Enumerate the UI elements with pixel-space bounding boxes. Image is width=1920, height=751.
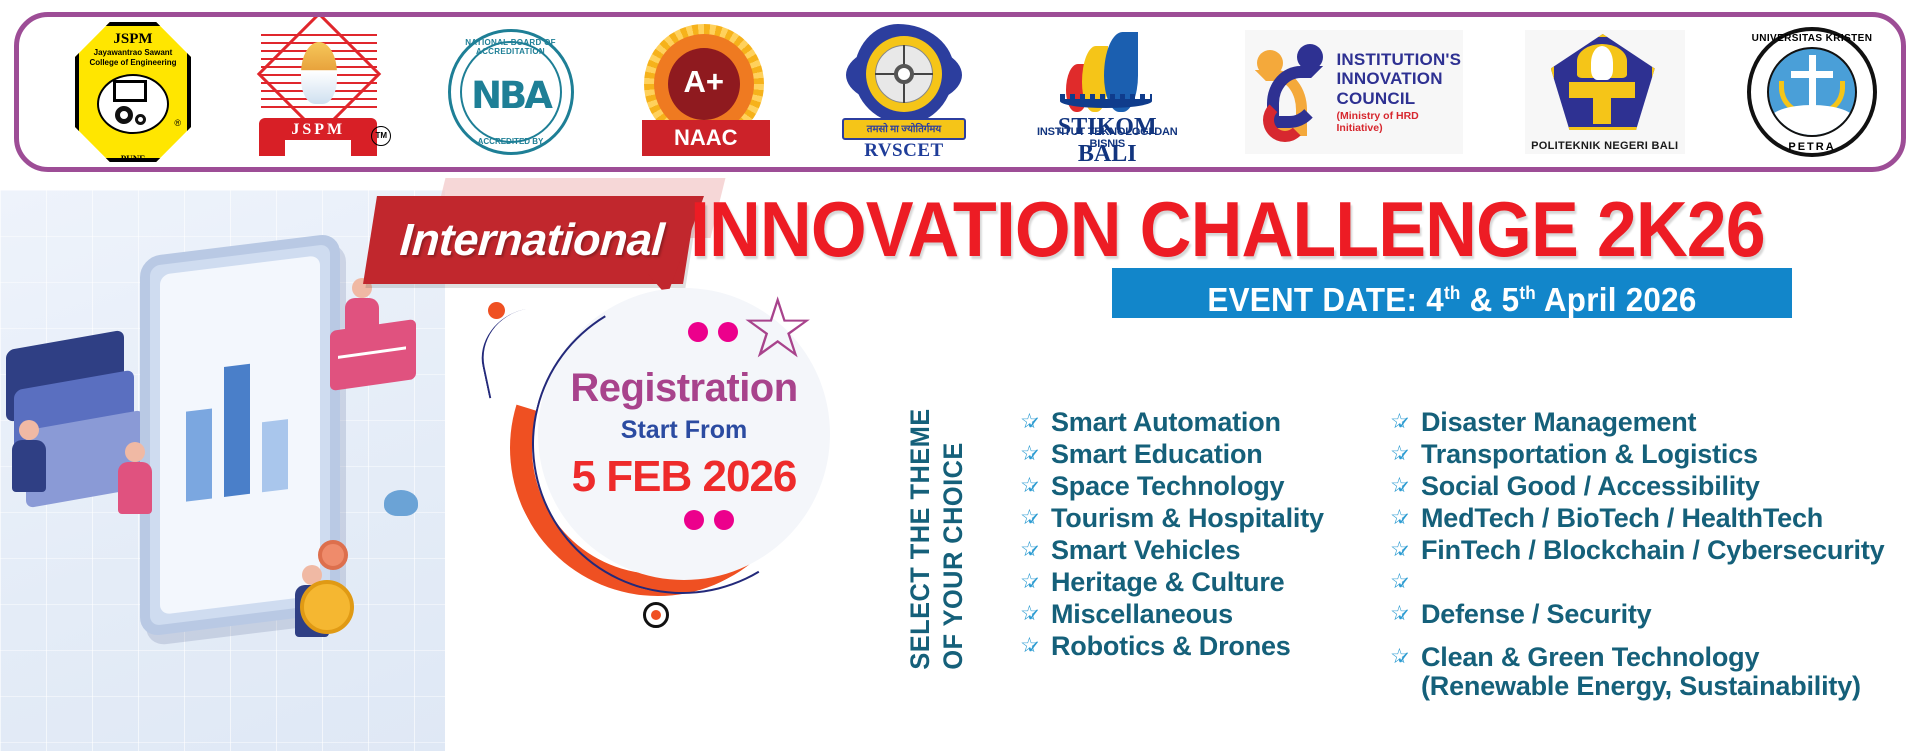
theme-label: Robotics & Drones [1051, 632, 1291, 661]
theme-item[interactable]: ☆✓Defense / Security [1390, 600, 1920, 629]
select-theme-vertical-label: OF YOUR CHOICE SELECT THE THEME [905, 400, 969, 678]
registration-date: 5 FEB 2026 [538, 452, 830, 502]
international-banner-label: International [379, 200, 685, 280]
nba-top-text: NATIONAL BOARD OF ACCREDITATION [451, 38, 571, 56]
machine-head-icon [113, 80, 147, 102]
event-day-2: 5 [1502, 281, 1520, 318]
stikom-bali-logo: INSTITUT TEKNOLOGI DAN BISNIS STIKOM BAL… [1032, 17, 1182, 167]
saraswati-figure [301, 42, 337, 104]
theme-item-empty: ☆✓ [1390, 568, 1920, 597]
jspm-line1: Jayawantrao Sawant [94, 48, 173, 57]
rvscet-name: RVSCET [838, 140, 970, 162]
event-day-2-sup: th [1519, 283, 1536, 303]
theme-label: Smart Automation [1051, 408, 1281, 437]
event-month-year: April 2026 [1544, 281, 1697, 318]
coin-icon [318, 540, 348, 570]
naac-grade: A+ [668, 64, 740, 100]
target-dot-icon [643, 602, 669, 628]
star-check-icon: ☆✓ [1020, 440, 1042, 468]
nba-logo: NATIONAL BOARD OF ACCREDITATION NBA ACCR… [448, 17, 574, 167]
iic-word-2: INNOVATION [1337, 69, 1462, 88]
gear-icon [115, 106, 133, 124]
star-check-icon: ☆✓ [1390, 440, 1412, 468]
jspm-octagon-subtitle: Jayawantrao Sawant College of Engineerin… [75, 48, 191, 68]
person-illustration [345, 278, 379, 350]
trademark-mark: TM [371, 126, 391, 146]
theme-label: Disaster Management [1421, 408, 1696, 437]
theme-item[interactable]: ☆✓Space Technology [1020, 472, 1370, 501]
rvscet-motto-band: तमसो मा ज्योतिर्गमय [842, 118, 966, 140]
rvscet-logo: तमसो मा ज्योतिर्गमय RVSCET [838, 17, 970, 167]
petra-top-text: UNIVERSITAS KRISTEN [1751, 33, 1873, 44]
registration-subtitle: Start From [538, 416, 830, 445]
event-date-text: EVENT DATE: 4th & 5th April 2026 [1129, 268, 1775, 318]
naac-ribbon-text: NAAC [642, 120, 770, 156]
select-theme-line-a: SELECT THE THEME [905, 408, 936, 669]
institutions-innovation-council-logo: INSTITUTION'S INNOVATION COUNCIL (Minist… [1245, 17, 1463, 167]
iic-subtitle: (Ministry of HRD Initiative) [1337, 110, 1462, 134]
theme-label: Clean & Green Technology [1421, 642, 1759, 672]
star-check-icon: ☆✓ [1020, 472, 1042, 500]
theme-label: Space Technology [1051, 472, 1284, 501]
event-day-1: 4 [1426, 281, 1444, 318]
theme-label: Defense / Security [1421, 600, 1652, 629]
theme-item[interactable]: ☆✓Smart Automation [1020, 408, 1370, 437]
registration-badge: ☆ Registration Start From 5 FEB 2026 [510, 288, 840, 618]
star-check-icon: ☆✓ [1390, 408, 1412, 436]
theme-label: Smart Vehicles [1051, 536, 1240, 565]
rvscet-motto: तमसो मा ज्योतिर्गमय [844, 120, 964, 139]
theme-item[interactable]: ☆✓Smart Vehicles [1020, 536, 1370, 565]
jspm-octagon-title: JSPM [75, 31, 191, 48]
nba-bottom-text: ACCREDITED BY [451, 137, 571, 146]
page-title: INNOVATION CHALLENGE 2K26 [690, 186, 1822, 272]
theme-label-group: Clean & Green Technology (Renewable Ener… [1421, 643, 1861, 701]
naac-ribbon: NAAC [642, 120, 770, 156]
theme-item[interactable]: ☆✓Transportation & Logistics [1390, 440, 1920, 469]
theme-label: Social Good / Accessibility [1421, 472, 1760, 501]
registered-mark: ® [174, 118, 181, 128]
event-date-banner: EVENT DATE: 4th & 5th April 2026 [1112, 268, 1792, 318]
jspm-octagon-logo: JSPM Jayawantrao Sawant College of Engin… [75, 17, 191, 167]
theme-item[interactable]: ☆✓Disaster Management [1390, 408, 1920, 437]
iic-word-3: COUNCIL [1337, 89, 1462, 108]
universitas-kristen-petra-logo: UNIVERSITAS KRISTEN PETRA [1747, 17, 1877, 167]
jspm-ribbon: JSPM [259, 118, 377, 156]
theme-item[interactable]: ☆✓Miscellaneous [1020, 600, 1370, 629]
star-check-icon: ☆✓ [1020, 504, 1042, 532]
star-check-icon: ☆✓ [1390, 504, 1412, 532]
theme-item[interactable]: ☆✓Social Good / Accessibility [1390, 472, 1920, 501]
naac-logo: A+ NAAC [636, 17, 776, 167]
gear-small-icon [135, 114, 146, 125]
star-check-icon: ☆✓ [1020, 568, 1042, 596]
theme-label: FinTech / Blockchain / Cybersecurity [1421, 536, 1884, 565]
star-check-icon: ☆✓ [1020, 408, 1042, 436]
iic-word-1: INSTITUTION'S [1337, 50, 1462, 69]
politeknik-caption: POLITEKNIK NEGERI BALI [1525, 140, 1685, 152]
gear-base-icon [1060, 94, 1152, 108]
pink-dots-top [688, 322, 738, 342]
poster-root: JSPM Jayawantrao Sawant College of Engin… [0, 0, 1920, 751]
jspm-saraswati-logo: JSPM TM [253, 17, 385, 167]
registration-title: Registration [538, 366, 830, 411]
event-date-prefix: EVENT DATE: [1207, 281, 1417, 318]
pink-dots-bottom [684, 510, 734, 530]
star-check-icon: ☆✓ [1020, 536, 1042, 564]
theme-item[interactable]: ☆✓FinTech / Blockchain / Cybersecurity [1390, 536, 1920, 565]
politeknik-negeri-bali-logo: POLITEKNIK NEGERI BALI [1525, 17, 1685, 167]
gear-icon [894, 64, 914, 84]
star-check-icon: ☆✓ [1390, 643, 1412, 671]
star-check-icon: ☆✓ [1390, 536, 1412, 564]
jspm-ribbon-text: JSPM [259, 121, 377, 139]
theme-item[interactable]: ☆✓Smart Education [1020, 440, 1370, 469]
theme-label: Tourism & Hospitality [1051, 504, 1324, 533]
iic-swoosh-icon [1253, 40, 1331, 144]
petra-bottom-text: PETRA [1751, 141, 1873, 153]
stikom-line2: STIKOM BALI [1032, 114, 1182, 168]
person-illustration [12, 420, 46, 492]
theme-item[interactable]: ☆✓MedTech / BioTech / HealthTech [1390, 504, 1920, 533]
theme-item[interactable]: ☆✓Tourism & Hospitality [1020, 504, 1370, 533]
theme-label-sub: (Renewable Energy, Sustainability) [1421, 672, 1861, 701]
star-check-icon: ☆ [740, 286, 836, 372]
theme-column-left: ☆✓Smart Automation ☆✓Smart Education ☆✓S… [1020, 408, 1370, 664]
theme-item[interactable]: ☆✓ Clean & Green Technology (Renewable E… [1390, 643, 1920, 701]
theme-label: Smart Education [1051, 440, 1263, 469]
theme-label: Transportation & Logistics [1421, 440, 1758, 469]
event-ampersand: & [1470, 281, 1493, 318]
person-illustration [118, 442, 152, 514]
theme-label: Miscellaneous [1051, 600, 1233, 629]
jspm-line2: College of Engineering [89, 58, 176, 67]
orange-dot [488, 302, 505, 319]
star-check-icon: ☆✓ [1390, 472, 1412, 500]
coin-icon [300, 580, 354, 634]
nba-monogram: NBA [451, 74, 571, 117]
theme-item[interactable]: ☆✓Heritage & Culture [1020, 568, 1370, 597]
theme-label: Heritage & Culture [1051, 568, 1284, 597]
star-check-icon: ☆✓ [1390, 568, 1412, 596]
theme-column-right: ☆✓Disaster Management ☆✓Transportation &… [1390, 408, 1920, 704]
accreditation-logo-bar: JSPM Jayawantrao Sawant College of Engin… [14, 12, 1906, 172]
select-theme-line-b: OF YOUR CHOICE [938, 408, 969, 669]
theme-label: MedTech / BioTech / HealthTech [1421, 504, 1823, 533]
jspm-city: PUNE [75, 154, 191, 164]
star-check-icon: ☆✓ [1020, 600, 1042, 628]
event-day-1-sup: th [1444, 283, 1461, 303]
star-check-icon: ☆✓ [1020, 632, 1042, 660]
mouse-icon [384, 490, 418, 516]
star-check-icon: ☆✓ [1390, 600, 1412, 628]
theme-item[interactable]: ☆✓Robotics & Drones [1020, 632, 1370, 661]
